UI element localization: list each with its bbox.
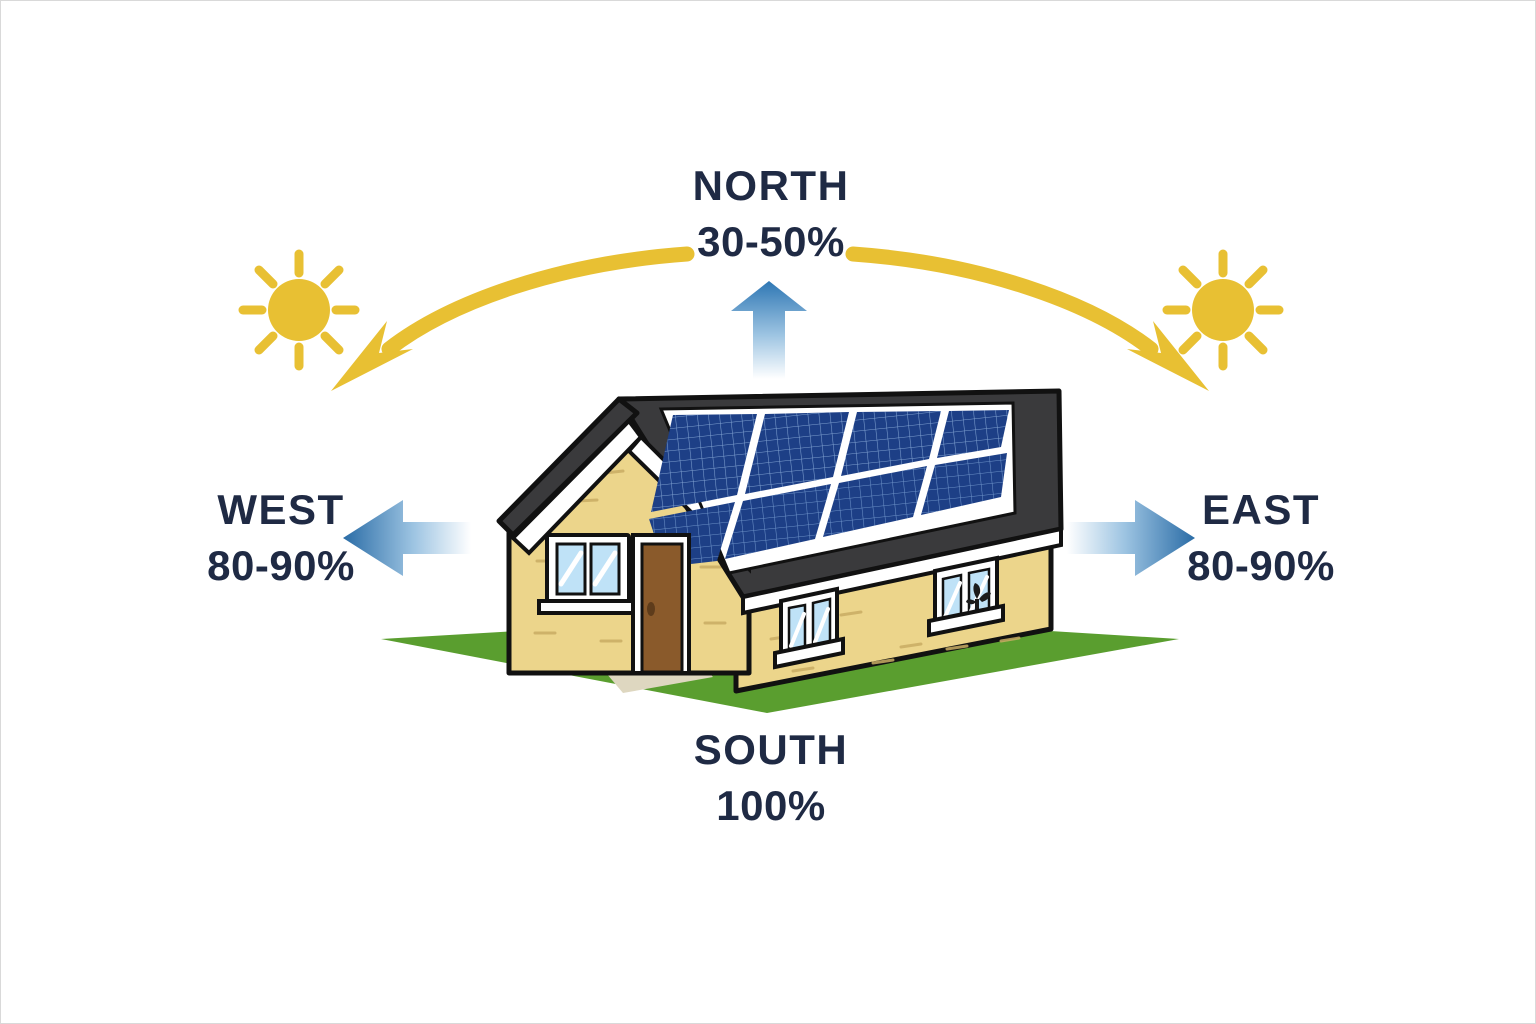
direction-label-west: WEST 80-90% <box>131 485 431 590</box>
sun-icon <box>1167 254 1279 366</box>
direction-name-west: WEST <box>131 485 431 535</box>
direction-value-west: 80-90% <box>131 541 431 591</box>
curved-arrow-icon <box>331 254 687 391</box>
direction-name-east: EAST <box>1111 485 1411 535</box>
direction-label-south: SOUTH 100% <box>621 725 921 830</box>
direction-label-east: EAST 80-90% <box>1111 485 1411 590</box>
direction-value-north: 30-50% <box>621 217 921 267</box>
diagram-canvas: NORTH 30-50% WEST 80-90% EAST 80-90% SOU… <box>0 0 1536 1024</box>
window <box>775 589 843 667</box>
arrow-up-icon <box>731 281 807 379</box>
window <box>539 535 637 613</box>
window <box>929 558 1003 635</box>
house <box>499 391 1061 691</box>
direction-name-north: NORTH <box>621 161 921 211</box>
direction-value-south: 100% <box>621 781 921 831</box>
direction-name-south: SOUTH <box>621 725 921 775</box>
door <box>633 535 689 673</box>
direction-value-east: 80-90% <box>1111 541 1411 591</box>
direction-label-north: NORTH 30-50% <box>621 161 921 266</box>
curved-arrow-icon <box>853 254 1209 391</box>
sun-icon <box>243 254 355 366</box>
